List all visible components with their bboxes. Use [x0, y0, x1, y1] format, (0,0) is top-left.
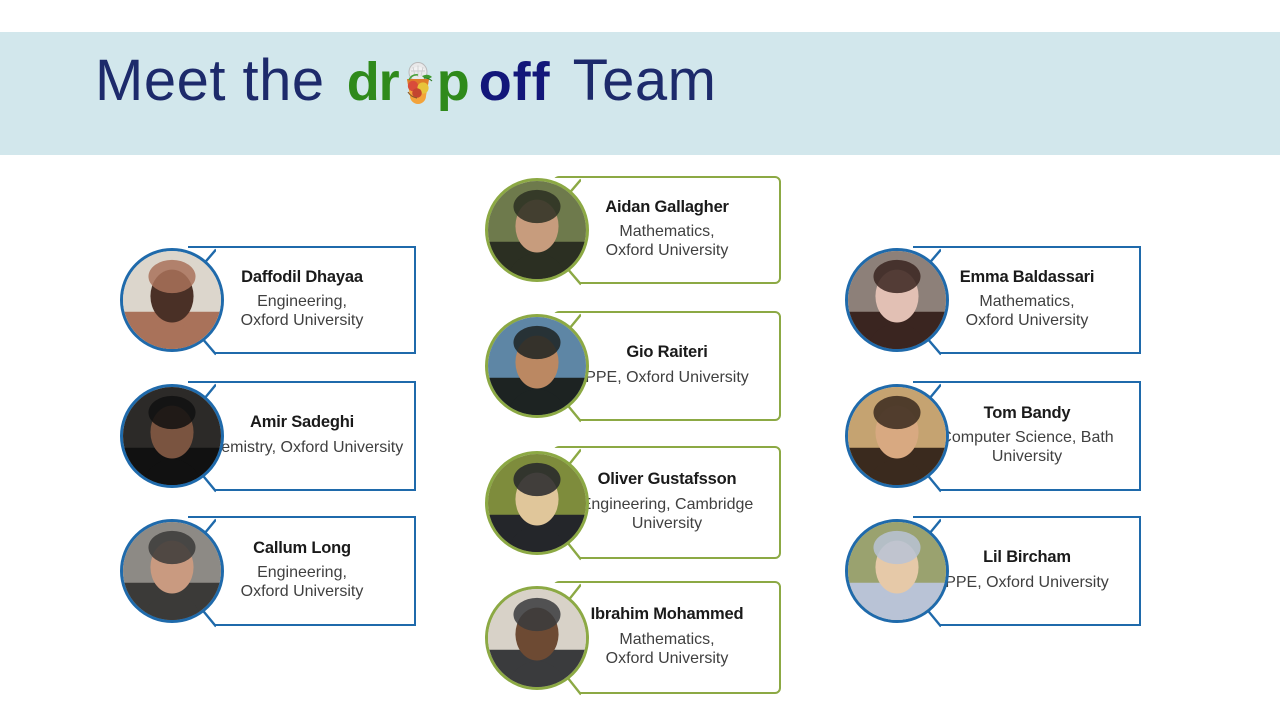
member-detail: Engineering,Oxford University: [241, 292, 364, 330]
member-detail: Engineering,Oxford University: [241, 563, 364, 601]
member-avatar[interactable]: [120, 248, 224, 352]
title-suffix: Team: [573, 52, 717, 110]
basket-icon: [398, 61, 438, 105]
member-name: Ibrahim Mohammed: [591, 605, 744, 624]
member-name: Callum Long: [253, 539, 351, 558]
page-title: Meet the dr p off Tea: [95, 52, 716, 110]
member-avatar[interactable]: [845, 248, 949, 352]
member-avatar[interactable]: [485, 586, 589, 690]
member-avatar[interactable]: [120, 384, 224, 488]
member-name: Oliver Gustafsson: [598, 470, 737, 489]
member-name: Lil Bircham: [983, 548, 1071, 567]
member-name: Gio Raiteri: [626, 343, 707, 362]
member-avatar[interactable]: [485, 314, 589, 418]
member-avatar[interactable]: [485, 178, 589, 282]
logo-text-off: off: [479, 55, 551, 109]
logo-text-p: p: [437, 55, 469, 109]
member-avatar[interactable]: [120, 519, 224, 623]
member-avatar[interactable]: [845, 519, 949, 623]
member-detail: Computer Science, Bath University: [925, 428, 1129, 466]
member-detail: PPE, Oxford University: [585, 368, 749, 387]
member-detail: Engineering, Cambridge University: [565, 495, 769, 533]
title-prefix: Meet the: [95, 52, 325, 110]
logo-text-dr: dr: [347, 55, 399, 109]
member-detail: Chemistry, Oxford University: [201, 438, 403, 457]
member-name: Amir Sadeghi: [250, 413, 354, 432]
member-name: Tom Bandy: [984, 404, 1071, 423]
member-name: Aidan Gallagher: [605, 198, 729, 217]
member-detail: Mathematics,Oxford University: [966, 292, 1089, 330]
member-avatar[interactable]: [845, 384, 949, 488]
member-detail: Mathematics,Oxford University: [606, 630, 729, 668]
member-detail: Mathematics,Oxford University: [606, 222, 729, 260]
member-name: Daffodil Dhayaa: [241, 268, 363, 287]
dropoff-logo: dr p off: [347, 55, 551, 109]
member-name: Emma Baldassari: [960, 268, 1095, 287]
member-detail: PPE, Oxford University: [945, 573, 1109, 592]
member-avatar[interactable]: [485, 451, 589, 555]
